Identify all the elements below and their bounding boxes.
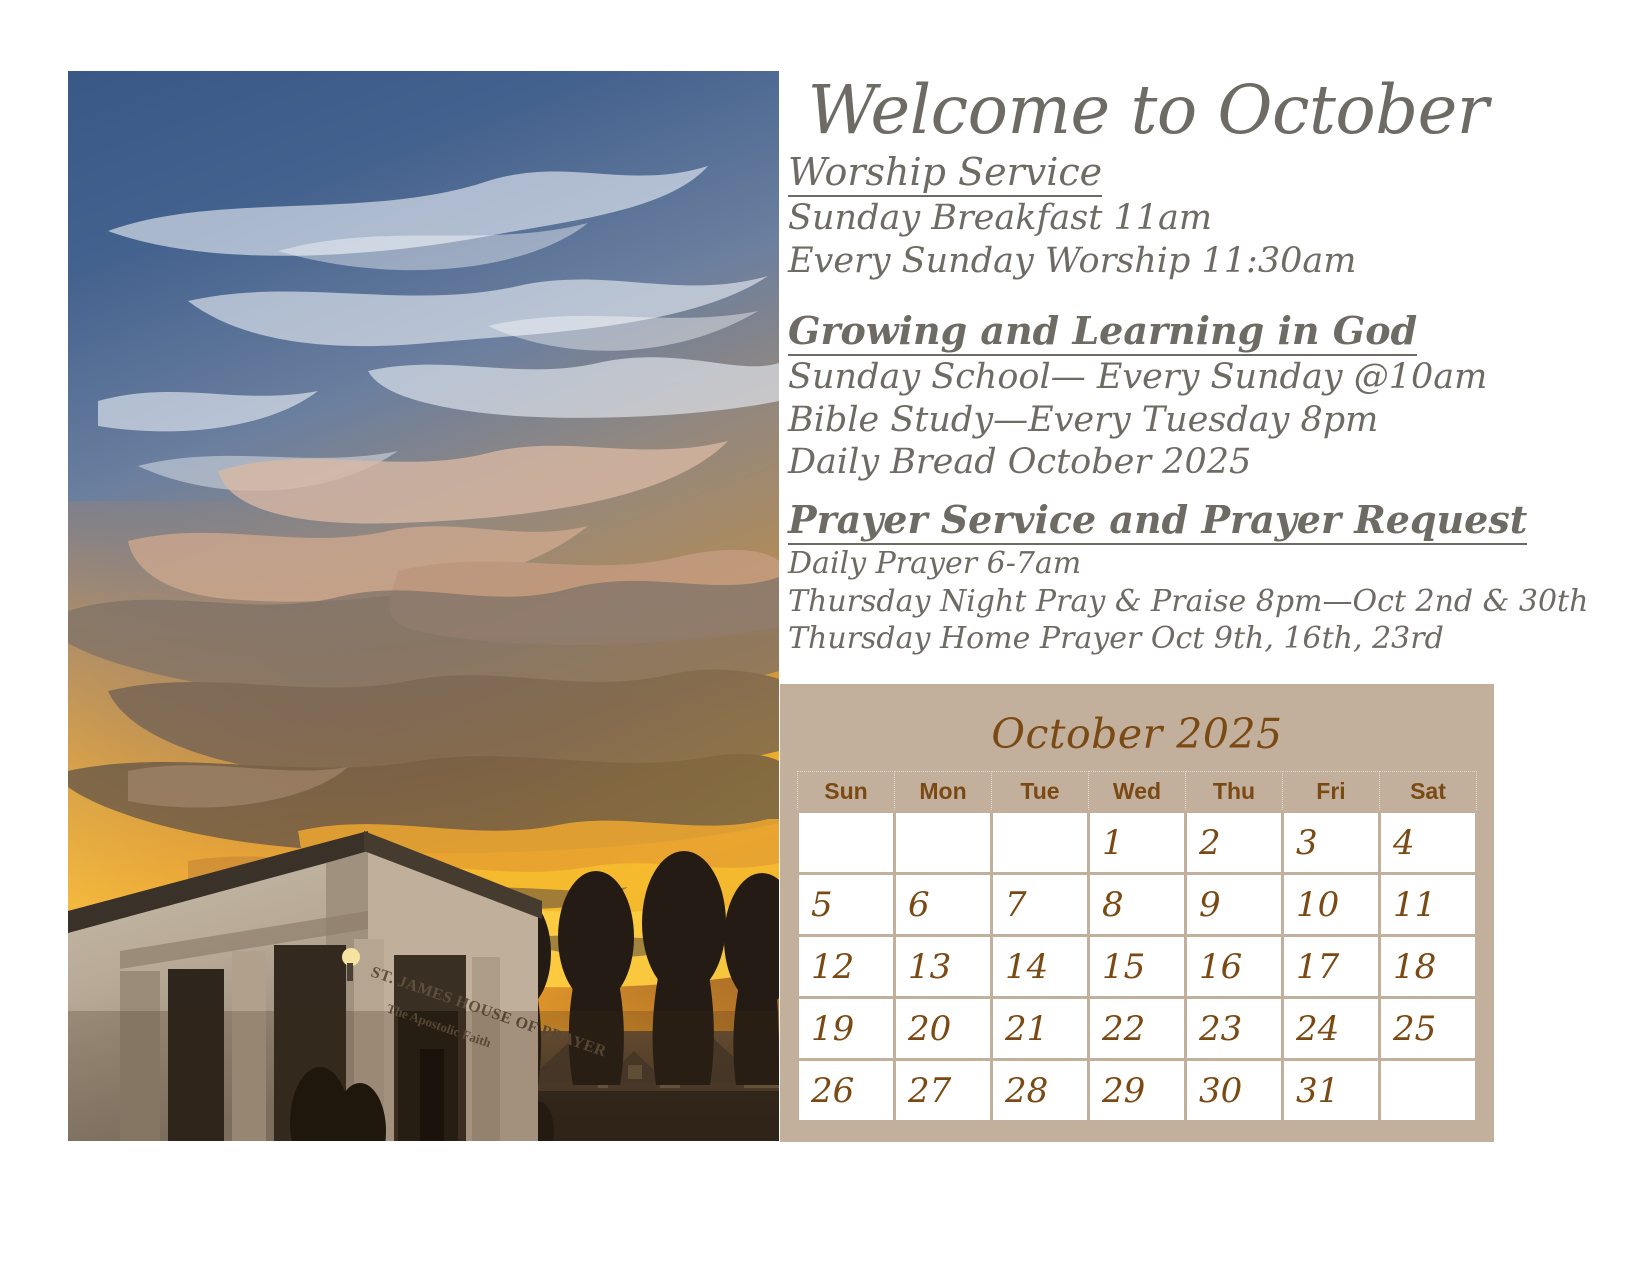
calendar-grid: Sun Mon Tue Wed Thu Fri Sat 1 2 3 4 bbox=[796, 771, 1478, 1123]
calendar-day-cell[interactable]: 4 bbox=[1380, 812, 1477, 874]
calendar-day-cell[interactable]: 15 bbox=[1089, 936, 1186, 998]
calendar-day-cell[interactable]: 30 bbox=[1186, 1060, 1283, 1122]
photo-artwork: ST. JAMES HOUSE OF PRAYER The Apostolic … bbox=[68, 71, 779, 1141]
spacer bbox=[788, 283, 1508, 309]
section-heading: Worship Service bbox=[788, 150, 1102, 197]
weekday-header-sat: Sat bbox=[1380, 772, 1477, 812]
section-line: Daily Bread October 2025 bbox=[788, 441, 1508, 484]
section-line: Thursday Night Pray & Praise 8pm—Oct 2nd… bbox=[788, 583, 1508, 621]
calendar-day-cell[interactable]: 6 bbox=[895, 874, 992, 936]
calendar-weekday-header-row: Sun Mon Tue Wed Thu Fri Sat bbox=[798, 772, 1477, 812]
calendar-day-cell[interactable] bbox=[1380, 1060, 1477, 1122]
calendar-day-cell[interactable]: 19 bbox=[798, 998, 895, 1060]
section-heading: Prayer Service and Prayer Request bbox=[788, 498, 1527, 545]
calendar-day-cell[interactable] bbox=[798, 812, 895, 874]
calendar-panel: October 2025 Sun Mon Tue Wed Thu Fri Sat bbox=[780, 684, 1494, 1142]
section-worship-service: Worship Service Sunday Breakfast 11am Ev… bbox=[788, 150, 1508, 282]
calendar-week-row: 19 20 21 22 23 24 25 bbox=[798, 998, 1477, 1060]
calendar-day-cell[interactable]: 14 bbox=[992, 936, 1089, 998]
section-line: Bible Study—Every Tuesday 8pm bbox=[788, 399, 1508, 442]
calendar-day-cell[interactable]: 12 bbox=[798, 936, 895, 998]
calendar-day-cell[interactable]: 13 bbox=[895, 936, 992, 998]
weekday-header-mon: Mon bbox=[895, 772, 992, 812]
calendar-day-cell[interactable]: 3 bbox=[1283, 812, 1380, 874]
calendar-day-cell[interactable]: 24 bbox=[1283, 998, 1380, 1060]
calendar-day-cell[interactable]: 18 bbox=[1380, 936, 1477, 998]
section-growing-learning: Growing and Learning in God Sunday Schoo… bbox=[788, 309, 1508, 484]
weekday-header-thu: Thu bbox=[1186, 772, 1283, 812]
calendar-day-cell[interactable]: 29 bbox=[1089, 1060, 1186, 1122]
calendar-day-cell[interactable] bbox=[992, 812, 1089, 874]
weekday-header-fri: Fri bbox=[1283, 772, 1380, 812]
announcements-column: Welcome to October Worship Service Sunda… bbox=[788, 76, 1508, 658]
section-line: Every Sunday Worship 11:30am bbox=[788, 240, 1508, 283]
calendar-day-cell[interactable]: 16 bbox=[1186, 936, 1283, 998]
calendar-week-row: 5 6 7 8 9 10 11 bbox=[798, 874, 1477, 936]
page-title: Welcome to October bbox=[788, 76, 1508, 144]
spacer bbox=[788, 484, 1508, 498]
section-line: Thursday Home Prayer Oct 9th, 16th, 23rd bbox=[788, 620, 1508, 658]
calendar-week-row: 1 2 3 4 bbox=[798, 812, 1477, 874]
calendar-flyer-page: ST. JAMES HOUSE OF PRAYER The Apostolic … bbox=[0, 0, 1650, 1275]
section-line: Sunday School— Every Sunday @10am bbox=[788, 356, 1508, 399]
weekday-header-sun: Sun bbox=[798, 772, 895, 812]
calendar-day-cell[interactable]: 25 bbox=[1380, 998, 1477, 1060]
calendar-day-cell[interactable]: 2 bbox=[1186, 812, 1283, 874]
calendar-day-cell[interactable]: 21 bbox=[992, 998, 1089, 1060]
section-heading: Growing and Learning in God bbox=[788, 309, 1417, 356]
section-prayer-service: Prayer Service and Prayer Request Daily … bbox=[788, 498, 1508, 658]
calendar-day-cell[interactable] bbox=[895, 812, 992, 874]
calendar-day-cell[interactable]: 28 bbox=[992, 1060, 1089, 1122]
calendar-week-row: 12 13 14 15 16 17 18 bbox=[798, 936, 1477, 998]
calendar-day-cell[interactable]: 10 bbox=[1283, 874, 1380, 936]
calendar-day-cell[interactable]: 7 bbox=[992, 874, 1089, 936]
calendar-day-cell[interactable]: 9 bbox=[1186, 874, 1283, 936]
calendar-day-cell[interactable]: 1 bbox=[1089, 812, 1186, 874]
calendar-day-cell[interactable]: 20 bbox=[895, 998, 992, 1060]
calendar-day-cell[interactable]: 11 bbox=[1380, 874, 1477, 936]
calendar-week-row: 26 27 28 29 30 31 bbox=[798, 1060, 1477, 1122]
calendar-day-cell[interactable]: 27 bbox=[895, 1060, 992, 1122]
section-line: Sunday Breakfast 11am bbox=[788, 197, 1508, 240]
weekday-header-tue: Tue bbox=[992, 772, 1089, 812]
church-sunset-photo: ST. JAMES HOUSE OF PRAYER The Apostolic … bbox=[68, 71, 779, 1141]
calendar-month-title: October 2025 bbox=[780, 684, 1494, 758]
calendar-day-cell[interactable]: 17 bbox=[1283, 936, 1380, 998]
calendar-day-cell[interactable]: 8 bbox=[1089, 874, 1186, 936]
calendar-day-cell[interactable]: 5 bbox=[798, 874, 895, 936]
calendar-day-cell[interactable]: 26 bbox=[798, 1060, 895, 1122]
calendar-day-cell[interactable]: 31 bbox=[1283, 1060, 1380, 1122]
calendar-body: 1 2 3 4 5 6 7 8 9 10 11 12 13 14 bbox=[798, 812, 1477, 1122]
calendar-day-cell[interactable]: 23 bbox=[1186, 998, 1283, 1060]
weekday-header-wed: Wed bbox=[1089, 772, 1186, 812]
section-line: Daily Prayer 6-7am bbox=[788, 545, 1508, 583]
calendar-day-cell[interactable]: 22 bbox=[1089, 998, 1186, 1060]
